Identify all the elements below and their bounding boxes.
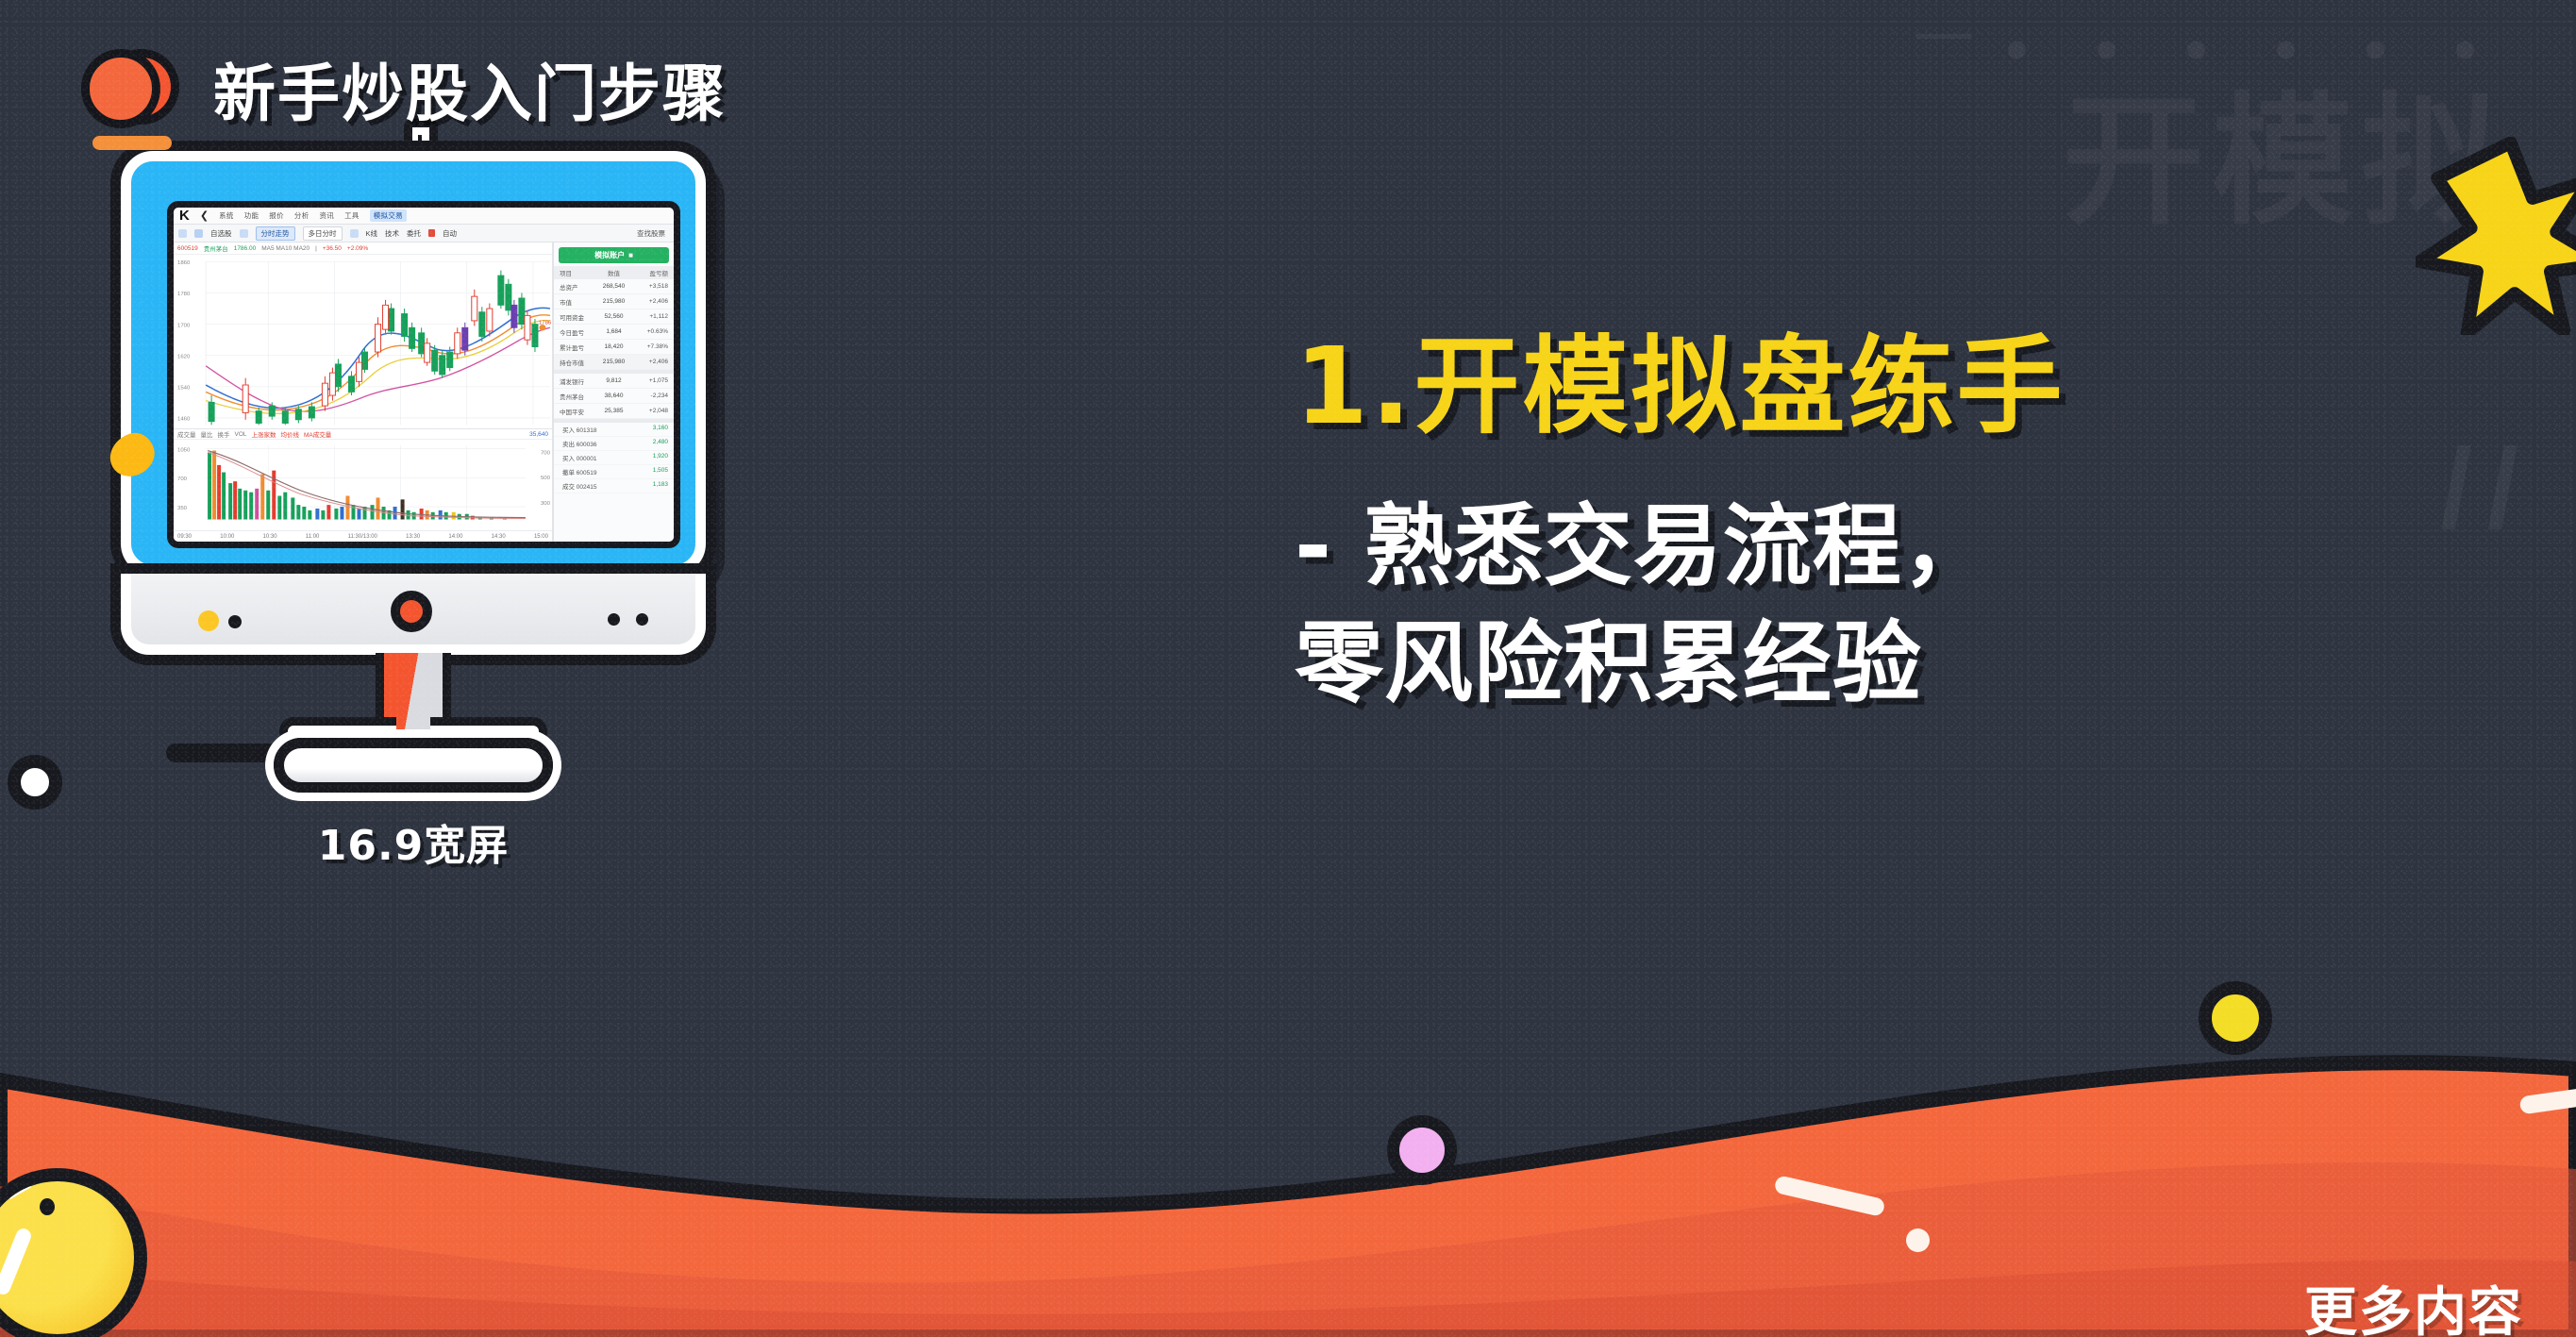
app-chart-column: 600519 贵州茅台 1786.00 MA5 MA10 MA20 | +36.… [174,242,553,542]
account-panel-title-text: 模拟账户 [594,250,625,260]
menu-item-2[interactable]: 报价 [269,210,284,221]
starburst-icon [2416,137,2576,335]
table-row[interactable]: 今日盈亏 1,684 +0.63% [554,325,674,340]
svg-text:500: 500 [541,476,551,481]
account-row-value: 1,684 [595,328,631,335]
order-label: 买入 601318 [562,427,597,434]
x-label-7: 14:30 [492,534,506,540]
stand-shadow [166,744,287,762]
menu-item-3[interactable]: 分析 [294,210,309,221]
account-col-0: 项目 [560,268,595,277]
x-label-6: 14:00 [448,534,462,540]
quote-extra: MA5 MA10 MA20 [261,245,309,252]
subcopy-line-2: 零风险积累经验 [1295,606,2540,723]
vol-right-value: 35,640 [529,431,548,438]
svg-text:700: 700 [177,476,188,482]
balloon-eye-icon [40,1198,55,1215]
bottom-note: 更多内容 [2304,1270,2523,1337]
toolbar-btn-4[interactable]: 技术 [385,228,399,239]
subcopy-block: - 熟悉交易流程， 零风险积累经验 [1295,489,2540,723]
menu-item-4[interactable]: 资讯 [320,210,335,221]
svg-text:300: 300 [541,501,551,507]
account-row-delta: +2,406 [632,298,668,305]
table-row[interactable]: 可用资金 52,560 +1,112 [554,309,674,325]
menu-item-0[interactable]: 系统 [219,210,234,221]
account-row-value: 268,540 [595,283,631,290]
holding-label: 浦发银行 [560,376,595,386]
account-panel: 模拟账户 ■ 项目 数值 盈亏额 总资产 268,540 [553,242,674,542]
toolbar-btn-0[interactable]: 自选股 [210,228,232,239]
svg-text:1620: 1620 [177,355,190,360]
svg-text:1700: 1700 [177,324,190,329]
monitor-illustration: K ❮ 系统 功能 报价 分析 资讯 工具 模拟交易 自选股 [121,151,706,679]
yellow-dot [2199,981,2272,1055]
list-item[interactable]: 买入 601318 3,160 [554,423,674,437]
order-value: 1,505 [653,467,668,476]
menu-item-5[interactable]: 工具 [344,210,360,221]
toolbar-btn-2[interactable]: 多日分时 [303,226,343,241]
holding-delta: -2,234 [632,393,668,399]
record-icon[interactable] [428,229,435,237]
quote-code: 600519 [177,245,198,252]
order-value: 1,183 [653,481,668,491]
account-row-value: 215,980 [595,359,631,365]
app-logo-icon: K [179,209,190,223]
account-row-delta: +2,406 [632,359,668,365]
bottom-waves [0,903,2576,1337]
table-row[interactable]: 持仓市值 215,980 +2,406 [554,355,674,370]
app-menubar: K ❮ 系统 功能 报价 分析 资讯 工具 模拟交易 [174,208,674,225]
monitor-dot-b [636,613,648,626]
page-header: 新手炒股入门步骤 [68,36,727,142]
screen-size-label: 16.9宽屏 [121,811,706,872]
x-label-8: 15:00 [534,534,548,540]
account-row-delta: +3,518 [632,283,668,290]
quote-separator: | [315,245,317,252]
holding-value: 38,640 [595,393,631,399]
vol-label-6: MA成交量 [304,429,331,439]
account-row-value: 18,420 [595,343,631,350]
chart-line-icon[interactable] [240,229,248,238]
svg-text:1780: 1780 [177,292,190,297]
order-label: 买入 000001 [562,456,597,462]
monitor-dot-a [608,613,620,626]
svg-text:700: 700 [541,450,551,456]
toolbar-right-label[interactable]: 查找股票 [637,228,669,239]
candlestick-svg: 1860 1780 1700 1620 1540 1460 [174,255,552,428]
vol-label-3: VOL [235,431,247,438]
menu-item-1[interactable]: 功能 [244,210,259,221]
volume-chart: 1050700350 700500300 [174,440,552,530]
quote-price: 1786.00 [234,245,257,252]
holding-delta: +1,075 [632,377,668,384]
volume-header: 成交量 量比 换手 VOL 上涨家数 均价线 MA成交量 35,640 [174,428,552,440]
account-row-value: 52,560 [595,313,631,320]
monitor-accent-dot-dark [228,615,242,628]
vol-label-1: 量比 [201,429,213,439]
table-row[interactable]: 市值 215,980 +2,406 [554,294,674,309]
monitor-accent-dot-yellow [198,610,219,631]
app-toolbar: 自选股 分时走势 多日分时 K线 技术 委托 自动 查找股票 [174,225,674,242]
svg-text:1860: 1860 [177,260,190,266]
account-row-label: 持仓市值 [560,358,595,367]
volume-svg: 1050700350 700500300 [174,440,552,530]
app-body: 600519 贵州茅台 1786.00 MA5 MA10 MA20 | +36.… [174,242,674,542]
table-row[interactable]: 累计盈亏 18,420 +7.38% [554,340,674,355]
account-table-header: 项目 数值 盈亏额 [554,266,674,279]
account-panel-title: 模拟账户 ■ [559,247,669,263]
vol-label-0: 成交量 [177,429,196,439]
white-dot-accent [1906,1228,1930,1252]
account-row-delta: +1,112 [632,313,668,320]
x-label-4: 11:30/13:00 [348,534,377,540]
toolbar-btn-5[interactable]: 委托 [407,228,421,239]
chart-x-axis: 09:30 10:00 10:30 11:00 11:30/13:00 13:3… [174,530,552,542]
headline-text: 1.开模拟盘练手 [1295,332,2540,443]
menu-item-6[interactable]: 模拟交易 [370,209,407,222]
table-row[interactable]: 总资产 268,540 +3,518 [554,279,674,294]
copy-block: 1.开模拟盘练手 - 熟悉交易流程， 零风险积累经验 [1295,332,2540,723]
account-col-2: 盈亏额 [632,268,668,277]
svg-text:350: 350 [177,506,188,511]
account-col-1: 数值 [595,268,631,277]
watermark-tick [1915,34,1972,39]
holding-label: 中国平安 [560,407,595,416]
logo-underline-bar [92,136,172,150]
table-row[interactable]: 中国平安 25,385 +2,048 [554,404,674,419]
vol-label-2: 换手 [218,429,230,439]
back-icon[interactable]: ❮ [200,209,209,222]
table-row[interactable]: 贵州茅台 38,640 -2,234 [554,389,674,404]
quote-change: +36.50 [323,245,342,252]
orders-list: 买入 601318 3,160 卖出 600036 2,480 买入 00000… [554,423,674,493]
holding-delta: +2,048 [632,408,668,414]
order-label: 撤单 600519 [562,470,597,476]
quote-pct: +2.09% [347,245,368,252]
list-item[interactable]: 买入 000001 1,920 [554,451,674,465]
quote-name: 贵州茅台 [204,243,228,253]
logo-front-circle [81,49,160,128]
search-icon[interactable] [178,229,187,238]
balloon-highlight [0,1227,33,1297]
brand-logo-icon [68,36,192,142]
x-label-5: 13:30 [406,534,420,540]
toolbar-btn-3[interactable]: K线 [366,228,378,239]
holding-value: 9,812 [595,377,631,384]
vol-label-5: 均价线 [281,429,300,439]
account-row-label: 市值 [560,297,595,307]
account-row-label: 累计盈亏 [560,343,595,352]
pink-dot [1387,1115,1457,1185]
order-value: 3,160 [653,425,668,434]
wallet-icon: ■ [628,251,633,259]
x-label-1: 10:00 [220,534,234,540]
x-label-2: 10:30 [263,534,277,540]
table-row[interactable]: 浦发银行 9,812 +1,075 [554,374,674,389]
holding-value: 25,385 [595,408,631,414]
grid-icon[interactable] [194,229,203,238]
monitor-screen: K ❮ 系统 功能 报价 分析 资讯 工具 模拟交易 自选股 [167,201,680,548]
monitor-stand-base [274,738,553,793]
account-row-label: 可用资金 [560,312,595,322]
svg-text:1786: 1786 [539,321,551,326]
account-row-value: 215,980 [595,298,631,305]
holding-label: 贵州茅台 [560,392,595,401]
monitor-bezel: K ❮ 系统 功能 报价 分析 资讯 工具 模拟交易 自选股 [121,151,706,576]
candlestick-chart: 1860 1780 1700 1620 1540 1460 [174,255,552,428]
order-value: 2,480 [653,439,668,448]
power-dot-icon[interactable] [391,591,432,632]
vol-label-4: 上涨家数 [252,429,276,439]
svg-text:1050: 1050 [177,448,191,454]
account-row-label: 今日盈亏 [560,327,595,337]
trading-app: K ❮ 系统 功能 报价 分析 资讯 工具 模拟交易 自选股 [174,208,674,542]
toolbar-btn-1[interactable]: 分时走势 [256,226,295,241]
order-value: 1,920 [653,453,668,462]
page-title: 新手炒股入门步骤 [213,43,727,134]
list-item[interactable]: 撤单 600519 1,505 [554,465,674,479]
x-label-0: 09:30 [177,534,192,540]
list-item[interactable]: 成交 002415 1,183 [554,479,674,493]
order-label: 卖出 600036 [562,442,597,448]
x-label-3: 11:00 [306,534,320,540]
svg-text:1460: 1460 [177,417,190,423]
account-row-delta: +7.38% [632,343,668,350]
account-row-delta: +0.63% [632,328,668,335]
poster-canvas: 开模拟 // 新手炒股入门步骤 1.开模拟盘练手 - 熟悉交易流程， 零风险积累… [0,0,2576,1337]
svg-text:1540: 1540 [177,386,190,392]
white-ring-dot [8,755,62,810]
list-item[interactable]: 卖出 600036 2,480 [554,437,674,451]
pin-icon[interactable] [350,229,359,238]
subcopy-line-1: - 熟悉交易流程， [1295,489,2540,606]
quote-strip: 600519 贵州茅台 1786.00 MA5 MA10 MA20 | +36.… [174,242,552,255]
toolbar-btn-6[interactable]: 自动 [443,228,457,239]
account-row-label: 总资产 [560,282,595,292]
order-label: 成交 002415 [562,484,597,491]
